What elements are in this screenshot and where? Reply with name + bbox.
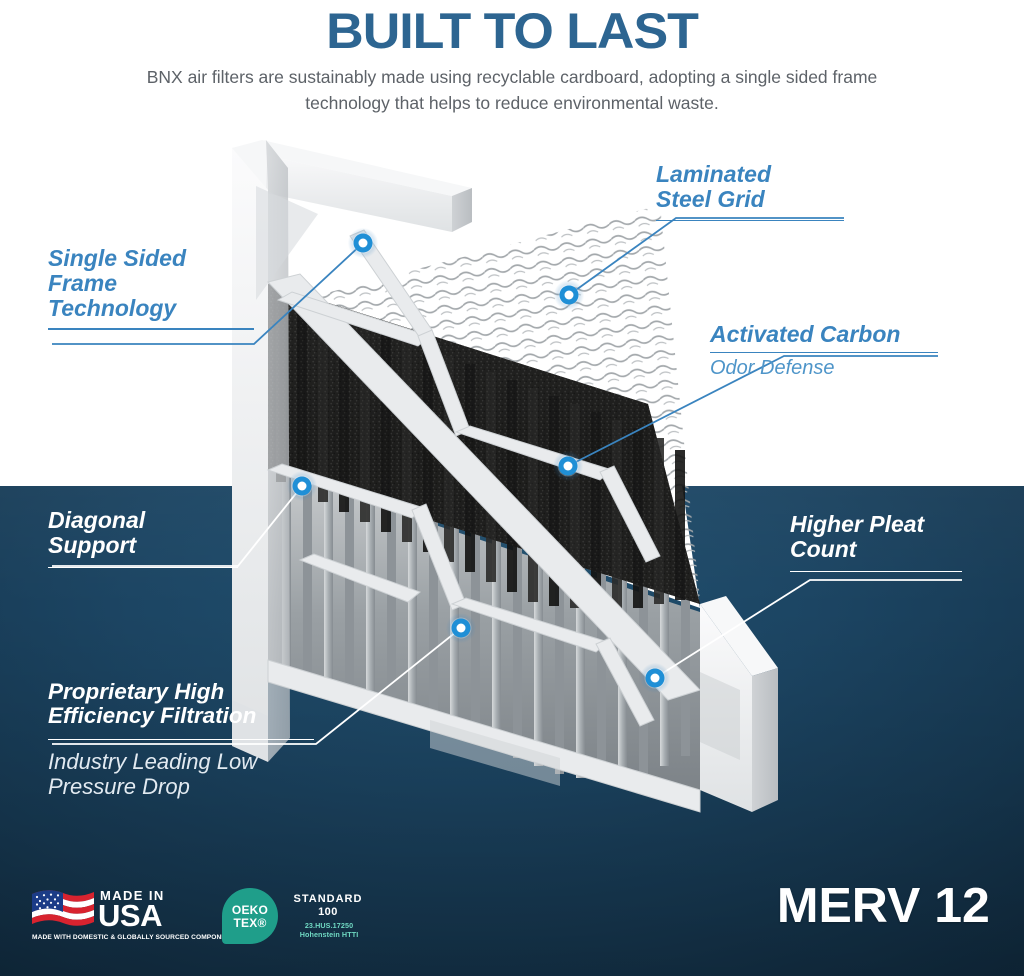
usa-label: USA [98, 900, 162, 931]
callout-proprietary-filtration: Proprietary High Efficiency Filtration I… [48, 680, 348, 799]
callout-underline [656, 220, 844, 222]
frame-bottom-right-corner [700, 596, 778, 812]
hotspot-higher-pleat-count[interactable] [640, 663, 670, 693]
hotspot-single-sided-frame[interactable] [348, 228, 378, 258]
oeko-label: OEKO [222, 903, 278, 917]
air-filter-cutaway-illustration [0, 0, 1024, 976]
hotspot-core [651, 674, 660, 683]
callout-higher-pleat-count: Higher Pleat Count [790, 512, 1024, 572]
callout-underline [48, 328, 254, 330]
hotspot-diagonal-support[interactable] [287, 471, 317, 501]
callout-subtext: Odor Defense [710, 357, 1010, 379]
hotspot-core [298, 482, 307, 491]
callout-activated-carbon: Activated Carbon Odor Defense [710, 322, 1010, 380]
infographic-canvas: BUILT TO LAST BNX air filters are sustai… [0, 0, 1024, 976]
callout-heading: Proprietary High Efficiency Filtration [48, 680, 348, 729]
callout-underline [48, 567, 238, 569]
callout-laminated-steel-grid: Laminated Steel Grid [656, 162, 916, 221]
callout-single-sided-frame: Single Sided Frame Technology [48, 246, 278, 330]
hotspot-laminated-steel-grid[interactable] [554, 280, 584, 310]
callout-underline [710, 352, 938, 354]
hotspot-core [564, 462, 573, 471]
callout-heading: Activated Carbon [710, 322, 1010, 347]
oeko-certificate-code: 23.HUS.17250 [284, 921, 374, 930]
hotspot-core [565, 291, 574, 300]
callout-subtext: Industry Leading Low Pressure Drop [48, 750, 348, 799]
callout-heading: Diagonal Support [48, 508, 288, 558]
callout-heading: Single Sided Frame Technology [48, 246, 278, 320]
hotspot-proprietary-filtration[interactable] [446, 613, 476, 643]
oeko-standard-number: 100 [284, 906, 372, 918]
merv-rating: MERV 12 [777, 882, 990, 931]
oeko-tex-badge: OEKO TEX® STANDARD 100 23.HUS.17250 Hohe… [222, 888, 372, 946]
hotspot-core [457, 624, 466, 633]
hotspot-activated-carbon[interactable] [553, 451, 583, 481]
callout-diagonal-support: Diagonal Support [48, 508, 288, 568]
usa-fine-print: MADE WITH DOMESTIC & GLOBALLY SOURCED CO… [32, 934, 204, 941]
callout-heading: Laminated Steel Grid [656, 162, 916, 212]
oeko-institute: Hohenstein HTTI [284, 930, 374, 939]
oeko-standard-label: STANDARD [284, 893, 372, 905]
oeko-tex-droplet-icon: OEKO TEX® [222, 888, 278, 944]
usa-flag-icon [32, 888, 94, 928]
callout-heading: Higher Pleat Count [790, 512, 1024, 562]
tex-label: TEX® [222, 916, 278, 930]
made-in-usa-badge: MADE IN USA MADE WITH DOMESTIC & GLOBALL… [32, 886, 202, 946]
hotspot-core [359, 239, 368, 248]
callout-underline [48, 739, 314, 741]
callout-underline [790, 571, 962, 573]
